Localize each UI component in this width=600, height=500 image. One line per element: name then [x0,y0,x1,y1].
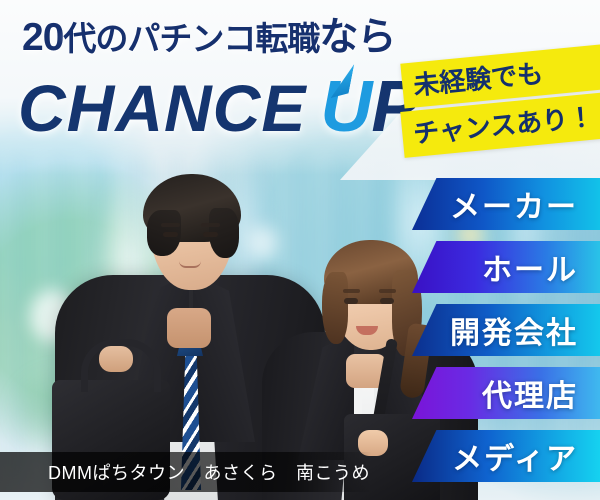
category-button-agency[interactable]: 代理店 [412,367,600,419]
chance-up-logo: CHANCEUP [18,66,428,146]
man-eyebrow-left [161,223,180,227]
headline-tail: なら [319,16,395,59]
man-hand [99,346,133,372]
category-button-maker[interactable]: メーカー [412,178,600,230]
man-neck [167,308,211,348]
category-label: ホール [482,245,578,289]
category-label: 開発会社 [450,308,578,352]
headline: 20代のパチンコ転職なら [22,18,442,57]
man-eye-right [203,232,218,237]
woman-eye-left [344,298,358,304]
headline-body: 代のパチンコ転職 [63,20,319,57]
woman-eyebrow-left [343,289,360,293]
experience-badge: 未経験でも チャンスあり！ [402,52,598,158]
man-mouth [179,261,201,268]
man-eyebrow-right [201,223,220,227]
category-button-developer[interactable]: 開発会社 [412,304,600,356]
woman-eyebrow-right [379,289,396,293]
man-hair [143,174,241,242]
category-label: 代理店 [482,371,578,415]
logo-word-chance: CHANCE [18,71,306,145]
headline-number: 20 [22,16,63,59]
man-eye-left [163,232,178,237]
credit-bar: DMMぱちタウン あさくら 南こうめ [0,452,372,492]
credit-text: DMMぱちタウン あさくら 南こうめ [48,459,370,485]
woman-eye-right [380,298,394,304]
banner: 20代のパチンコ転職なら CHANCEUP 未経験でも チャンスあり！ メーカー… [0,0,600,500]
category-label: メディア [452,434,578,478]
woman-hair-left [322,272,348,344]
category-label: メーカー [450,182,578,226]
category-button-hall[interactable]: ホール [412,241,600,293]
category-button-media[interactable]: メディア [412,430,600,482]
